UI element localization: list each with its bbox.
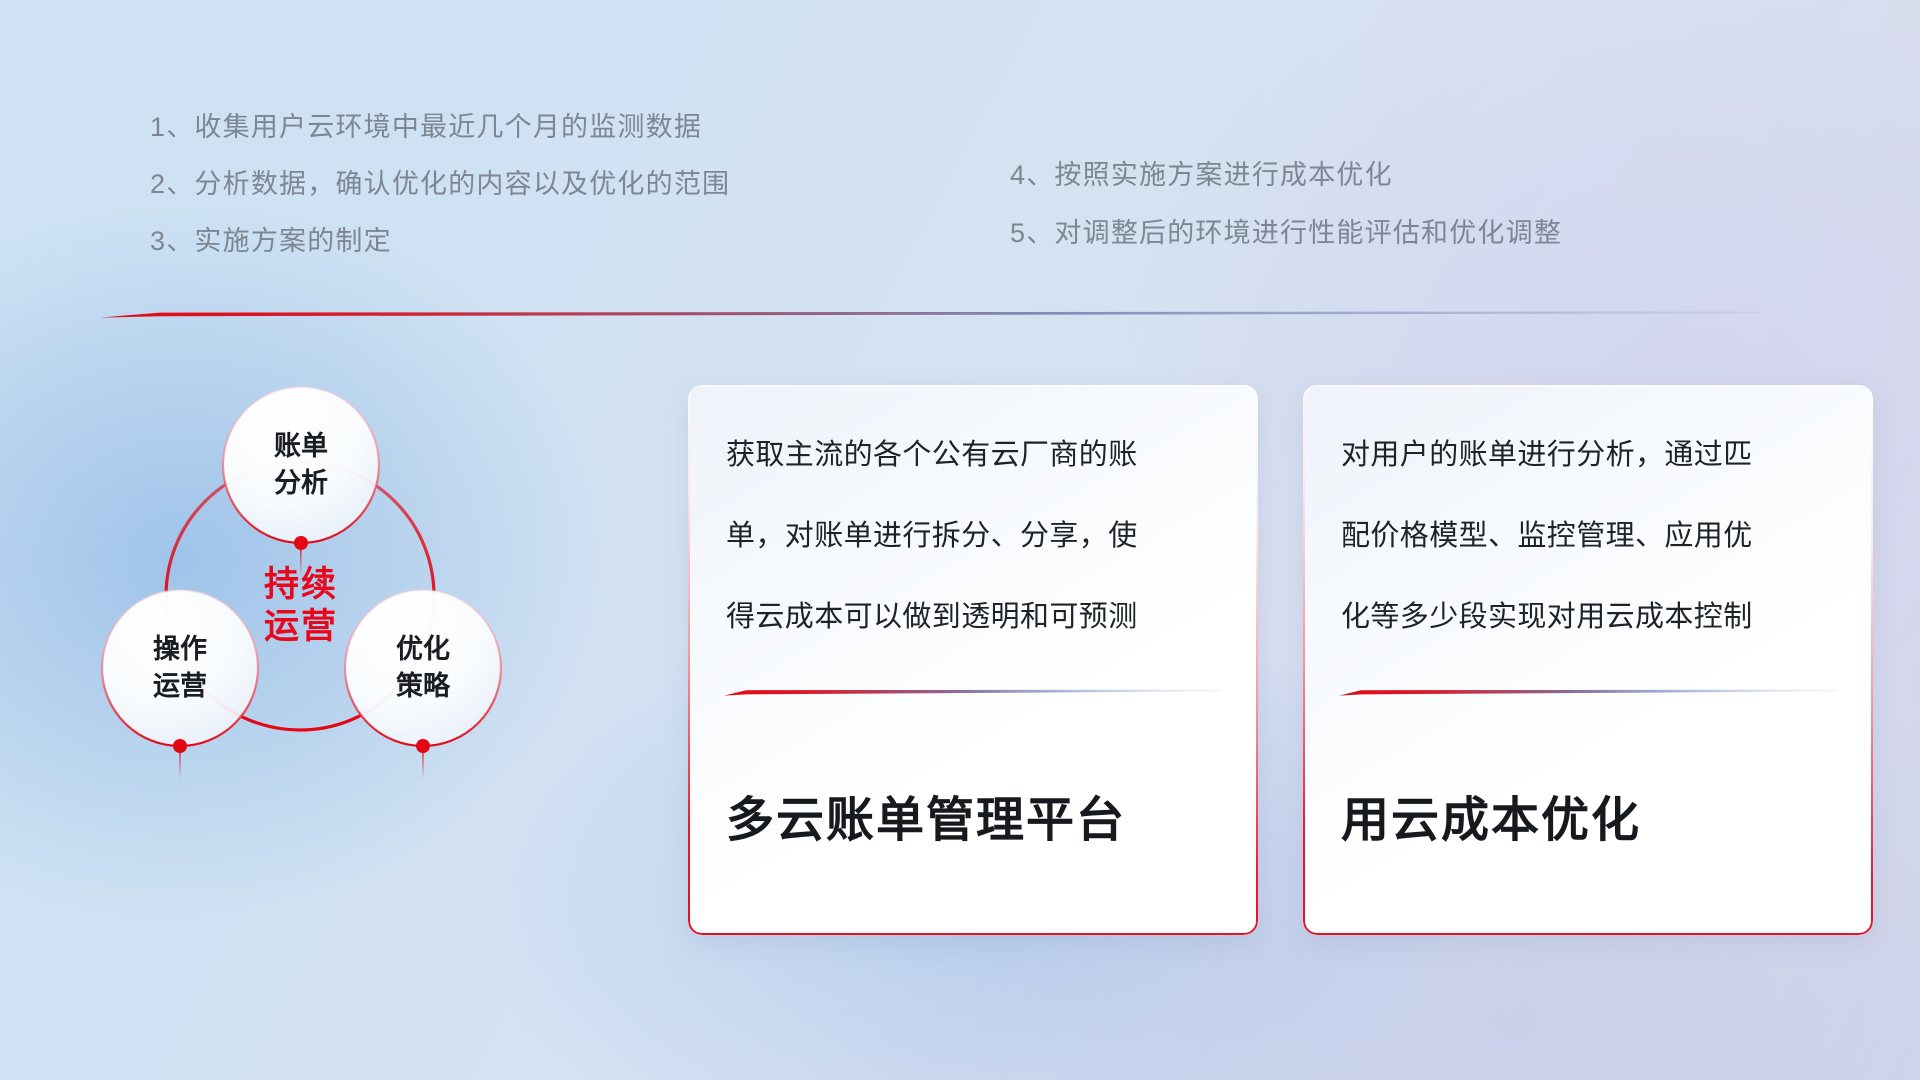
node-label-line2: 分析	[274, 468, 328, 498]
section-divider-shape	[100, 309, 1760, 319]
card-accent-rule	[724, 688, 1222, 697]
node-stem	[179, 749, 181, 779]
node-bubble	[102, 590, 258, 746]
card-description-line: 配价格模型、监控管理、应用优	[1341, 522, 1843, 551]
feature-card-multi-cloud-billing-platform[interactable]: 获取主流的各个公有云厂商的账 单，对账单进行拆分、分享，使 得云成本可以做到透明…	[688, 385, 1258, 935]
process-steps-right-column: 4、按照实施方案进行成本优化 5、对调整后的环境进行性能评估和优化调整	[1010, 114, 1830, 278]
continuous-operations-diagram: 账单 分析 操作 运营 优化 策略 持续 运营	[95, 350, 675, 950]
feature-card-cloud-cost-optimization[interactable]: 对用户的账单进行分析，通过匹 配价格模型、监控管理、应用优 化等多少段实现对用云…	[1303, 385, 1873, 935]
card-description-line: 得云成本可以做到透明和可预测	[726, 603, 1228, 632]
diagram-node-billing-analysis[interactable]: 账单 分析	[223, 387, 379, 576]
node-bubble	[345, 590, 501, 746]
card-description-line: 化等多少段实现对用云成本控制	[1341, 603, 1843, 632]
card-description-line: 单，对账单进行拆分、分享，使	[726, 522, 1228, 551]
card-accent-rule	[1339, 688, 1837, 697]
card-title: 多云账单管理平台	[726, 780, 1126, 850]
node-label-line1: 账单	[274, 431, 328, 461]
process-step-item: 4、按照实施方案进行成本优化	[1010, 162, 1830, 189]
process-step-item: 1、收集用户云环境中最近几个月的监测数据	[150, 114, 1010, 141]
process-step-item: 3、实施方案的制定	[150, 228, 1010, 255]
diagram-svg: 账单 分析 操作 运营 优化 策略 持续 运营	[95, 350, 675, 950]
node-label-line1: 优化	[396, 634, 450, 664]
card-description-line: 获取主流的各个公有云厂商的账	[726, 441, 1228, 470]
node-label-line2: 策略	[396, 670, 451, 701]
node-stem	[422, 749, 424, 779]
card-description: 对用户的账单进行分析，通过匹 配价格模型、监控管理、应用优 化等多少段实现对用云…	[1341, 441, 1843, 684]
node-bubble	[223, 387, 379, 543]
node-label-line1: 操作	[153, 634, 207, 664]
card-title: 用云成本优化	[1341, 780, 1641, 850]
card-description-line: 对用户的账单进行分析，通过匹	[1341, 441, 1843, 470]
process-step-item: 5、对调整后的环境进行性能评估和优化调整	[1010, 220, 1830, 247]
diagram-node-operations[interactable]: 操作 运营	[102, 590, 258, 779]
diagram-node-optimization[interactable]: 优化 策略	[345, 590, 501, 779]
process-step-item: 2、分析数据，确认优化的内容以及优化的范围	[150, 171, 1010, 198]
card-description: 获取主流的各个公有云厂商的账 单，对账单进行拆分、分享，使 得云成本可以做到透明…	[726, 441, 1228, 684]
center-label-line1: 持续	[264, 565, 338, 604]
section-divider	[100, 309, 1760, 319]
diagram-center-label: 持续 运营	[264, 565, 338, 646]
process-steps-left-column: 1、收集用户云环境中最近几个月的监测数据 2、分析数据，确认优化的内容以及优化的…	[150, 114, 1010, 285]
node-label-line2: 运营	[153, 671, 207, 701]
process-steps-list: 1、收集用户云环境中最近几个月的监测数据 2、分析数据，确认优化的内容以及优化的…	[150, 114, 1850, 285]
center-label-line2: 运营	[264, 607, 338, 646]
